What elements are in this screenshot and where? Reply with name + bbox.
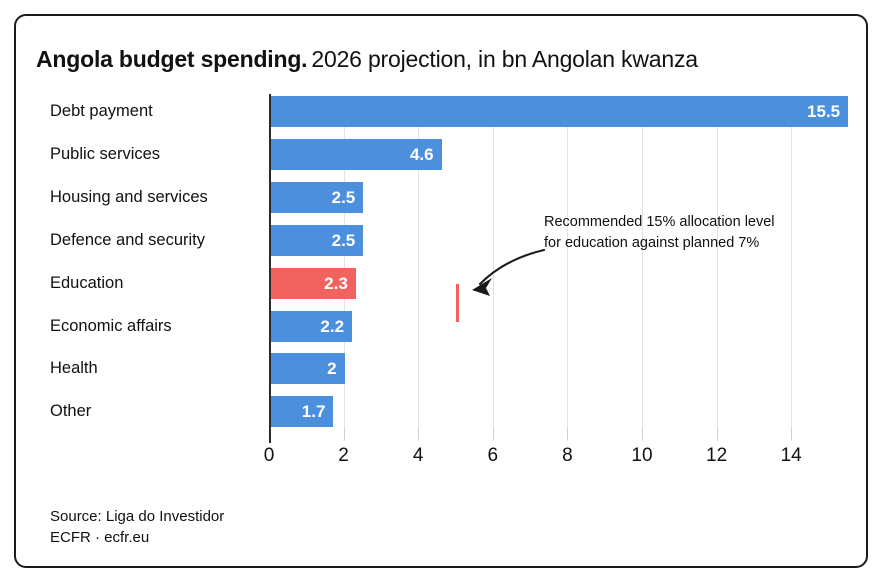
axis-tick-label: 0 [264,445,275,467]
bar-series: 15.54.62.52.52.32.221.7 [270,96,865,441]
plot-area: 15.54.62.52.52.32.221.7 [269,96,864,441]
bar-value-label: 1.7 [302,396,326,427]
axis-tick-label: 4 [413,445,424,467]
bar-row: 1.7 [270,396,333,427]
bar-row: 2.5 [270,182,363,213]
category-label: Defence and security [50,225,205,256]
axis-tick-label: 6 [488,445,499,467]
value-axis-baseline [269,94,271,443]
chart-subtitle: 2026 projection, in bn Angolan kwanza [311,46,697,72]
bar-row: 2.5 [270,225,363,256]
bar-row: 2 [270,353,345,384]
axis-tick-label: 12 [706,445,727,467]
axis-tick-label: 8 [562,445,573,467]
bar-value-label: 15.5 [807,96,840,127]
bar-value-label: 4.6 [410,139,434,170]
axis-tick-label: 2 [338,445,349,467]
page-title: Angola budget spending. [36,46,307,72]
chart-frame: Angola budget spending.2026 projection, … [14,14,868,568]
category-label: Housing and services [50,182,208,213]
category-label: Public services [50,139,160,170]
chart-title-block: Angola budget spending.2026 projection, … [36,46,698,73]
bar-value-label: 2.3 [324,268,348,299]
category-label: Debt payment [50,96,153,127]
chart-footer: Source: Liga do Investidor ECFR · ecfr.e… [50,506,224,548]
bar-row: 4.6 [270,139,442,170]
category-label: Health [50,353,98,384]
category-label: Economic affairs [50,311,172,342]
bar-row: 2.2 [270,311,352,342]
bar-value-label: 2.5 [332,182,356,213]
value-axis: 02468101214 [269,441,869,481]
bar-value-label: 2 [327,353,336,384]
recommended-allocation-marker [456,284,459,322]
credit-line: ECFR · ecfr.eu [50,527,224,548]
bar-row: 15.5 [270,96,848,127]
bar-row: 2.3 [270,268,356,299]
axis-tick-label: 10 [631,445,652,467]
category-label: Other [50,396,91,427]
bar-value-label: 2.2 [320,311,344,342]
axis-tick-label: 14 [781,445,802,467]
category-label: Education [50,268,123,299]
bar-value-label: 2.5 [332,225,356,256]
bar [270,96,848,127]
source-line: Source: Liga do Investidor [50,506,224,527]
